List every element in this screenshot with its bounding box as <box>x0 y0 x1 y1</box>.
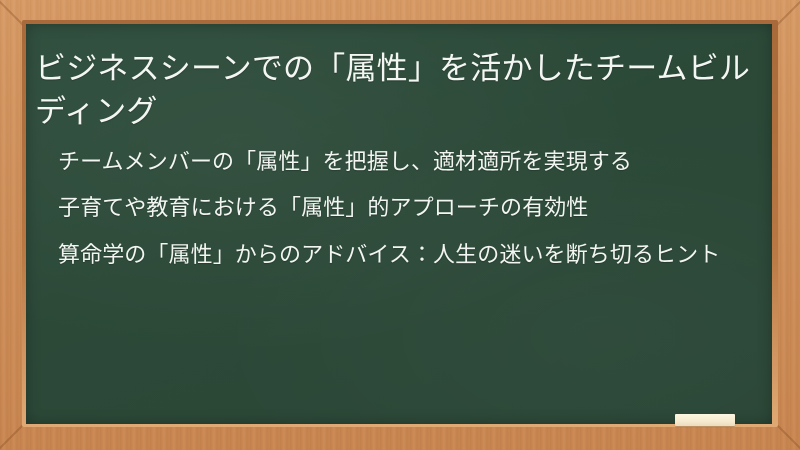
list-item: 子育てや教育における「属性」的アプローチの有効性 <box>46 192 762 224</box>
slide-title: ビジネスシーンでの「属性」を活かしたチームビルディング <box>35 48 765 134</box>
slide-bullet-list: チームメンバーの「属性」を把握し、適材適所を実現する 子育てや教育における「属性… <box>46 146 762 271</box>
chalkboard-surface: ビジネスシーンでの「属性」を活かしたチームビルディング チームメンバーの「属性」… <box>26 24 772 424</box>
chalkboard-content: ビジネスシーンでの「属性」を活かしたチームビルディング チームメンバーの「属性」… <box>26 24 772 424</box>
chalk-stick-icon <box>675 414 735 426</box>
list-item: チームメンバーの「属性」を把握し、適材適所を実現する <box>46 146 762 178</box>
list-item: 算命学の「属性」からのアドバイス：人生の迷いを断ち切るヒント <box>46 239 762 271</box>
slide-canvas: ビジネスシーンでの「属性」を活かしたチームビルディング チームメンバーの「属性」… <box>0 0 800 450</box>
